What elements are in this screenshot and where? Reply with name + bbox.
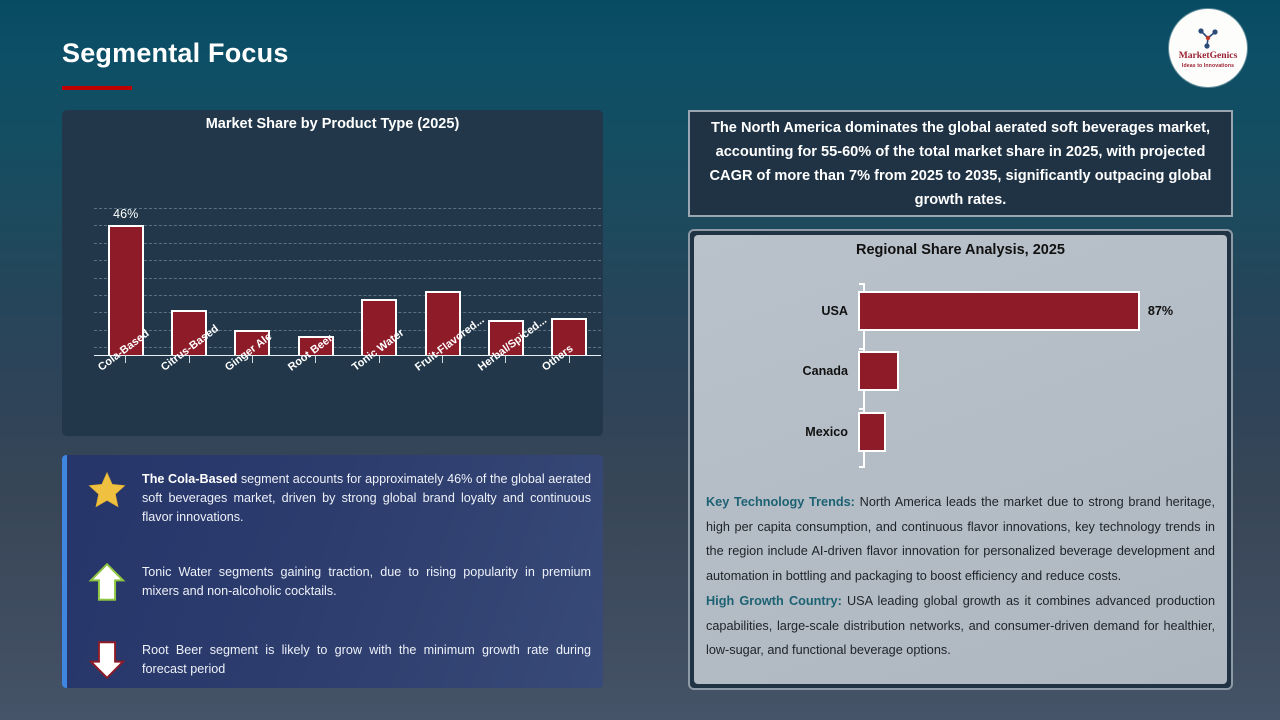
insight-text-3: Root Beer segment is likely to grow with… (142, 639, 591, 679)
category-label-slot: Root Beer (284, 360, 347, 430)
regional-chart-title: Regional Share Analysis, 2025 (694, 235, 1227, 258)
insight-lead-1: The Cola-Based (142, 472, 237, 486)
insight-item-3: Root Beer segment is likely to grow with… (84, 639, 591, 681)
molecule-icon (1195, 27, 1221, 49)
regional-panel: Regional Share Analysis, 2025 USA87%Cana… (688, 229, 1233, 690)
note-2: High Growth Country: USA leading global … (706, 589, 1215, 663)
product-type-chart-title: Market Share by Product Type (2025) (62, 110, 603, 132)
star-icon (84, 470, 130, 510)
category-label-slot: Citrus-Based (157, 360, 220, 430)
note-1-lead: Key Technology Trends: (706, 495, 855, 509)
regional-bar[interactable] (858, 291, 1140, 331)
regional-bar-series: USA87%CanadaMexico (694, 277, 1227, 472)
regional-bar-label: Canada (694, 364, 856, 378)
brand-logo: MarketGenics Ideas to Innovations (1169, 9, 1247, 87)
page-title: Segmental Focus (62, 38, 289, 69)
bar-slot (284, 208, 347, 356)
category-label-slot: Herbal/Spiced... (474, 360, 537, 430)
insight-item-1: The Cola-Based segment accounts for appr… (84, 470, 591, 527)
insights-accent-bar (62, 455, 67, 688)
regional-callout-box: The North America dominates the global a… (688, 110, 1233, 217)
regional-callout-text: The North America dominates the global a… (704, 116, 1217, 212)
arrow-up-icon (84, 561, 130, 603)
bar-slot (221, 208, 284, 356)
regional-bar-row: USA87% (694, 291, 1227, 331)
arrow-down-icon (84, 639, 130, 681)
title-underline-rule (62, 86, 132, 90)
insight-text-2: Tonic Water segments gaining traction, d… (142, 561, 591, 601)
bar-slot (538, 208, 601, 356)
regional-bar-label: USA (694, 304, 856, 318)
category-label-slot: Fruit-Flavored... (411, 360, 474, 430)
logo-tagline: Ideas to Innovations (1182, 63, 1234, 69)
category-label-slot: Cola-Based (94, 360, 157, 430)
x-axis-category-labels: Cola-BasedCitrus-BasedGinger AleRoot Bee… (94, 360, 601, 430)
regional-bar-label: Mexico (694, 425, 856, 439)
bar-value-label: 46% (113, 207, 138, 221)
product-type-chart-card: Market Share by Product Type (2025) 46% … (62, 110, 603, 436)
regional-bar-value: 87% (1148, 304, 1173, 318)
regional-notes: Key Technology Trends: North America lea… (706, 490, 1215, 663)
logo-name: MarketGenics (1179, 51, 1238, 61)
insight-text-1: The Cola-Based segment accounts for appr… (142, 470, 591, 527)
regional-bar-row: Canada (694, 351, 1227, 391)
insights-card: The Cola-Based segment accounts for appr… (62, 455, 603, 688)
category-label-slot: Tonic Water (348, 360, 411, 430)
y-axis-cap-2 (859, 408, 865, 410)
note-2-lead: High Growth Country: (706, 594, 842, 608)
note-1: Key Technology Trends: North America lea… (706, 490, 1215, 589)
regional-bar[interactable] (858, 351, 899, 391)
category-label-slot: Others (538, 360, 601, 430)
regional-bar-row: Mexico (694, 412, 1227, 452)
y-axis-cap-top (859, 283, 865, 285)
regional-panel-inner: Regional Share Analysis, 2025 USA87%Cana… (694, 235, 1227, 684)
y-axis-cap-1 (859, 348, 865, 350)
insight-item-2: Tonic Water segments gaining traction, d… (84, 561, 591, 603)
y-axis-cap-bottom (859, 466, 865, 468)
category-label-slot: Ginger Ale (221, 360, 284, 430)
regional-bar[interactable] (858, 412, 886, 452)
